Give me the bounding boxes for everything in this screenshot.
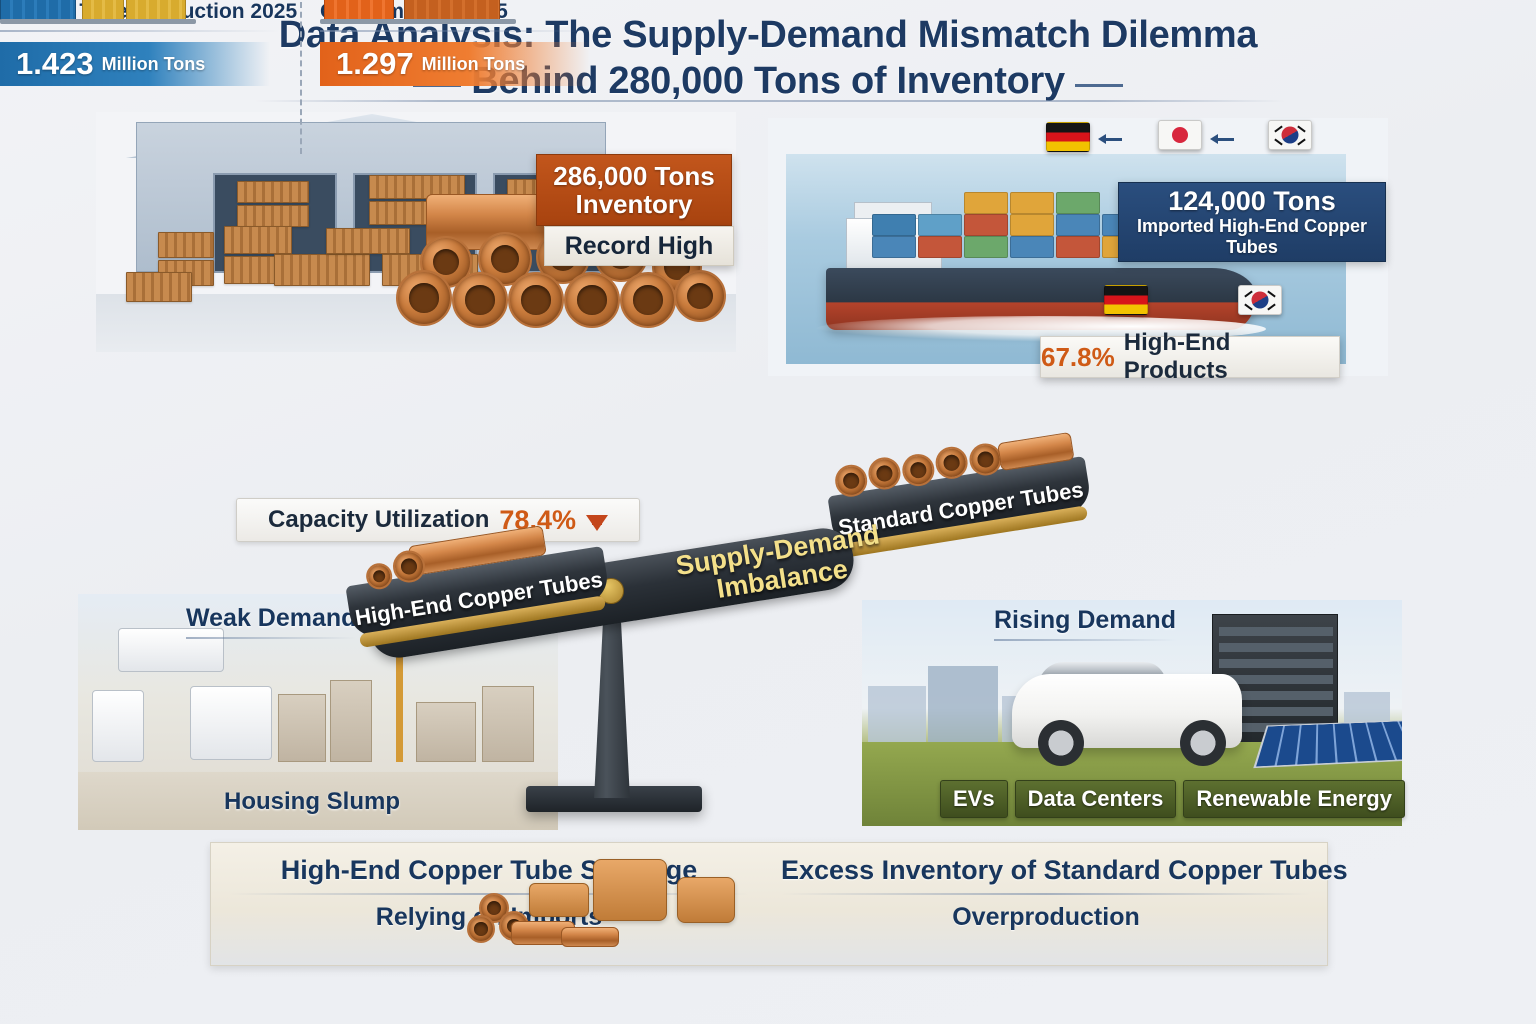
skyline-block (928, 666, 998, 752)
tag-data-centers: Data Centers (1015, 780, 1177, 818)
production-bar-tertiary (126, 0, 186, 20)
scale-column (584, 598, 640, 798)
shipping-container (1056, 236, 1100, 258)
shipping-container (1056, 214, 1100, 236)
supply-demand-balance-scale: Standard Copper Tubes Supply-Demand Imba… (330, 500, 890, 820)
imports-badge: 124,000 Tons Imported High-End Copper Tu… (1118, 182, 1386, 262)
pallet-stack (237, 205, 309, 227)
consumption-column: Consumption 2025 1.297 Million Tons (320, 0, 600, 32)
import-arrow-icon (1210, 134, 1234, 144)
summary-right-rule (781, 893, 1311, 895)
pallet-stack (224, 226, 292, 254)
summary-right: Excess Inventory of Standard Copper Tube… (781, 855, 1311, 932)
production-unit: Million Tons (102, 54, 206, 75)
production-value-band: 1.423 Million Tons (0, 42, 270, 86)
production-baseline (0, 19, 196, 24)
rising-demand-heading: Rising Demand (994, 606, 1176, 641)
inventory-label: Inventory (575, 190, 692, 218)
high-end-products-badge: 67.8% High-End Products (1040, 336, 1340, 378)
car-wheel (1180, 720, 1226, 766)
germany-flag-icon (1104, 285, 1148, 315)
consumption-value: 1.297 (336, 46, 414, 82)
record-high-badge: Record High (544, 226, 734, 266)
imports-label: Imported High-End Copper Tubes (1119, 216, 1385, 258)
rising-demand-tags: EVs Data Centers Renewable Energy (940, 780, 1405, 818)
south-korea-flag-icon (1268, 120, 1312, 150)
record-high-text: Record High (565, 232, 714, 261)
ac-outdoor-unit-icon (92, 690, 144, 762)
inventory-amount: 286,000 Tons (553, 162, 714, 190)
scale-pan-right: Standard Copper Tubes (827, 456, 1092, 550)
consumption-unit: Million Tons (422, 54, 526, 75)
shipping-container (964, 214, 1008, 236)
germany-flag-icon (1046, 122, 1090, 152)
chart-divider (300, 2, 302, 154)
consumption-bar-secondary (404, 0, 500, 20)
shipping-container (1010, 214, 1054, 236)
shipping-container (1056, 192, 1100, 214)
consumption-rule (320, 30, 600, 32)
inventory-badge: 286,000 Tons Inventory (536, 154, 732, 226)
pallet-stack (237, 181, 309, 203)
ac-outdoor-unit-icon (190, 686, 272, 760)
rising-demand-text: Rising Demand (994, 606, 1176, 634)
solar-panel-icon (1253, 720, 1402, 768)
tag-evs: EVs (940, 780, 1008, 818)
pallet-stack (158, 232, 214, 258)
shipping-container (964, 192, 1008, 214)
building-block (278, 694, 326, 762)
japan-flag-icon (1158, 120, 1202, 150)
high-end-label: High-End Products (1124, 329, 1339, 385)
shipping-container (872, 236, 916, 258)
summary-right-main: Excess Inventory of Standard Copper Tube… (781, 855, 1311, 886)
consumption-bar-primary (324, 0, 394, 20)
summary-left-main: High-End Copper Tube Shortage (229, 855, 749, 886)
south-korea-flag-icon (1238, 285, 1282, 315)
title-divider (255, 100, 1285, 102)
consumption-baseline (320, 19, 516, 24)
summary-right-sub: Overproduction (781, 903, 1311, 932)
summary-band: High-End Copper Tube Shortage Relying on… (210, 842, 1328, 966)
shipping-container (918, 214, 962, 236)
production-column: Copper Tube Production 2025 1.423 Millio… (0, 0, 280, 32)
production-bar-secondary (82, 0, 124, 20)
production-bar-primary (0, 0, 76, 20)
high-end-percent: 67.8% (1041, 342, 1115, 373)
shipping-container (918, 236, 962, 258)
production-value: 1.423 (16, 46, 94, 82)
pallet-stack (126, 272, 192, 302)
pallet-stack (326, 228, 410, 254)
infographic-canvas: Data Analysis: The Supply-Demand Mismatc… (0, 0, 1536, 1024)
car-wheel (1038, 720, 1084, 766)
shipping-container (1010, 236, 1054, 258)
shipping-container (872, 214, 916, 236)
consumption-value-band: 1.297 Million Tons (320, 42, 590, 86)
rising-demand-rule (994, 639, 1176, 641)
tag-renewable-energy: Renewable Energy (1183, 780, 1405, 818)
production-rule (0, 30, 280, 32)
shipping-container (1010, 192, 1054, 214)
imports-amount: 124,000 Tons (1168, 187, 1336, 216)
import-arrow-icon (1098, 134, 1122, 144)
pallet-stack (274, 254, 370, 286)
shipping-container (964, 236, 1008, 258)
